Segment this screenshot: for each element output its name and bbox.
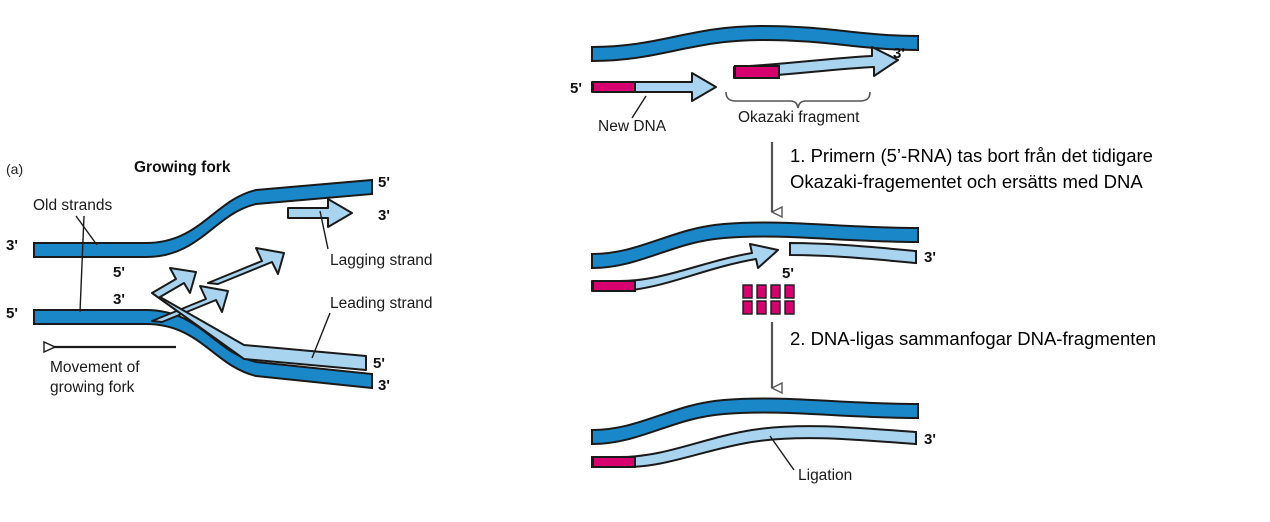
panel-a-label: (a) (6, 161, 23, 177)
annotation-2-line-1: 2. DNA-ligas sammanfogar DNA-fragmenten (790, 328, 1156, 349)
ligase-square (771, 285, 780, 298)
label-new-dna: New DNA (598, 118, 667, 135)
label-ligation: Ligation (798, 467, 852, 484)
annotation-1-line-1: 1. Primern (5’-RNA) tas bort från det ti… (790, 145, 1153, 166)
prime-template-top-left: 3' (6, 237, 18, 254)
panel-b-step-3: Ligation 3' (592, 398, 936, 484)
panel-a: (a) Growing fork Old strands Lagging str… (6, 159, 433, 396)
ligase-square (757, 301, 766, 314)
annotation-step-1: 1. Primern (5’-RNA) tas bort från det ti… (790, 145, 1153, 192)
label-old-strands: Old strands (33, 197, 113, 214)
step3-rna-primer (593, 457, 635, 467)
step2-rna-primer (593, 281, 635, 291)
step3-prime-right: 3' (924, 431, 936, 448)
prime-lagging-arrow-right: 3' (378, 207, 390, 224)
step2-prime-gap: 5' (782, 265, 794, 282)
ligase-square (785, 285, 794, 298)
panel-b-step-1: New DNA Okazaki fragment 5' 3' (570, 26, 918, 135)
label-okazaki-fragment: Okazaki fragment (738, 109, 860, 126)
leader-old-strand-top (76, 216, 97, 245)
ligase-square (771, 301, 780, 314)
leader-ligation (770, 436, 794, 470)
step1-prime-left: 5' (570, 80, 582, 97)
panel-b-step-2: 5' 3' (592, 222, 936, 314)
prime-top-right-old: 5' (378, 174, 390, 191)
prime-leading-right: 5' (373, 355, 385, 372)
okazaki-arrow-2 (208, 248, 284, 284)
step1-rna-primer-left (593, 82, 635, 92)
prime-leading-fork-start: 3' (113, 291, 125, 308)
annotation-step-2: 2. DNA-ligas sammanfogar DNA-fragmenten (790, 328, 1156, 349)
label-lagging-strand: Lagging strand (330, 252, 433, 269)
panel-a-title: Growing fork (134, 159, 231, 176)
prime-bottom-right-old: 3' (378, 377, 390, 394)
label-movement-line1: Movement of (50, 359, 140, 376)
label-movement-line2: growing fork (50, 379, 135, 396)
prime-template-bottom-left: 5' (6, 305, 18, 322)
prime-lagging-fork-start: 5' (113, 264, 125, 281)
leader-new-dna (632, 96, 646, 118)
label-leading-strand: Leading strand (330, 295, 433, 312)
brace-okazaki-fragment (726, 92, 870, 108)
ligase-square (743, 285, 752, 298)
ligase-square (743, 301, 752, 314)
ligase-square (785, 301, 794, 314)
annotation-1-line-2: Okazaki-fragementet och ersätts med DNA (790, 171, 1143, 192)
ligase-squares (743, 285, 794, 314)
diagram-canvas: (a) Growing fork Old strands Lagging str… (0, 0, 1270, 522)
step2-previous-fragment (790, 243, 916, 263)
dna-replication-figure: (a) Growing fork Old strands Lagging str… (0, 0, 1270, 522)
step1-rna-primer-right (735, 66, 779, 78)
step1-prime-right: 3' (893, 45, 905, 62)
step2-prime-right: 3' (924, 249, 936, 266)
ligase-square (757, 285, 766, 298)
leader-old-strand-bottom (80, 216, 84, 312)
